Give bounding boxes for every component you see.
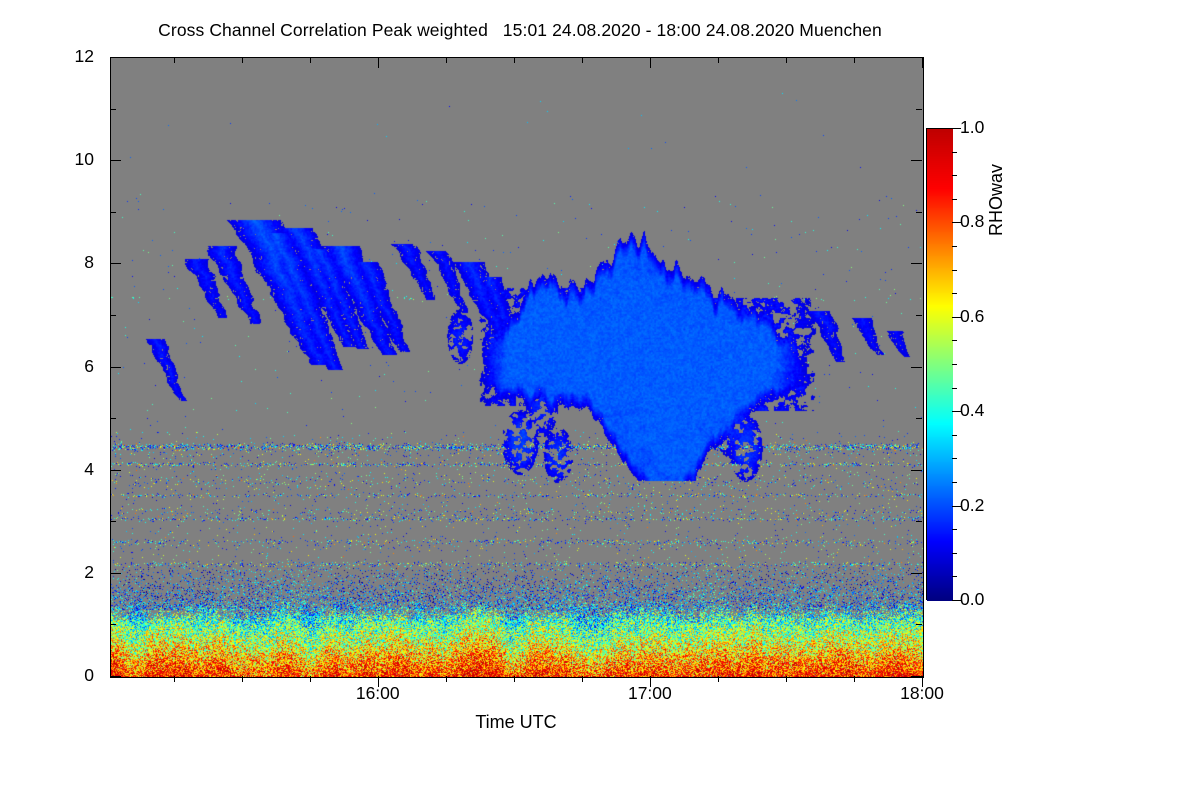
- y-tick-mark-minor: [110, 521, 116, 522]
- y-tick-label: 6: [52, 356, 94, 377]
- colorbar-tick-mark-minor: [952, 293, 957, 294]
- y-tick-label: 2: [52, 562, 94, 583]
- y-tick-label: 10: [52, 149, 94, 170]
- x-tick-mark-minor: [582, 57, 583, 63]
- colorbar[interactable]: [926, 128, 952, 600]
- x-tick-mark-minor: [854, 676, 855, 682]
- x-axis-label: Time UTC: [110, 712, 922, 733]
- x-tick-mark: [922, 57, 923, 68]
- y-tick-mark: [911, 263, 922, 264]
- page-title: Cross Channel Correlation Peak weighted …: [0, 20, 1040, 41]
- colorbar-tick-label: 0.2: [960, 495, 984, 516]
- x-tick-mark-minor: [310, 57, 311, 63]
- colorbar-tick-label: 0.6: [960, 306, 984, 327]
- x-tick-mark-minor: [242, 676, 243, 682]
- y-tick-label: 4: [52, 459, 94, 480]
- x-tick-mark-minor: [786, 676, 787, 682]
- y-tick-mark: [110, 367, 121, 368]
- y-tick-mark: [110, 470, 121, 471]
- colorbar-tick-mark-minor: [952, 529, 957, 530]
- y-tick-mark-minor: [916, 624, 922, 625]
- colorbar-tick-mark-minor: [952, 576, 957, 577]
- y-tick-label: 0: [52, 665, 94, 686]
- colorbar-tick-label: 0.0: [960, 589, 984, 610]
- colorbar-label: RHOwav: [986, 100, 1007, 300]
- colorbar-tick-mark-minor: [952, 458, 957, 459]
- colorbar-gradient: [926, 128, 952, 600]
- x-tick-mark-minor: [242, 57, 243, 63]
- y-tick-mark: [110, 160, 121, 161]
- y-tick-mark-minor: [916, 521, 922, 522]
- y-tick-mark-minor: [110, 109, 116, 110]
- y-tick-label: 12: [52, 46, 94, 67]
- colorbar-tick-mark-minor: [952, 364, 957, 365]
- y-tick-mark: [911, 573, 922, 574]
- colorbar-tick-mark-minor: [952, 246, 957, 247]
- x-tick-mark-minor: [446, 676, 447, 682]
- y-tick-mark: [110, 57, 121, 58]
- colorbar-canvas: [927, 129, 953, 601]
- colorbar-tick-mark-minor: [952, 388, 957, 389]
- colorbar-tick-mark-minor: [952, 435, 957, 436]
- y-tick-mark: [110, 676, 121, 677]
- y-tick-mark-minor: [110, 212, 116, 213]
- x-tick-label: 18:00: [877, 683, 967, 704]
- x-tick-mark-minor: [718, 676, 719, 682]
- y-tick-mark-minor: [916, 109, 922, 110]
- x-tick-mark-minor: [786, 57, 787, 63]
- x-tick-mark-minor: [854, 57, 855, 63]
- y-tick-mark: [911, 160, 922, 161]
- colorbar-tick-mark-minor: [952, 270, 957, 271]
- x-tick-mark-minor: [718, 57, 719, 63]
- x-tick-mark: [650, 57, 651, 68]
- x-tick-mark-minor: [514, 57, 515, 63]
- colorbar-tick-label: 0.8: [960, 211, 984, 232]
- x-tick-mark-minor: [310, 676, 311, 682]
- y-tick-label: 8: [52, 252, 94, 273]
- y-tick-mark-minor: [916, 418, 922, 419]
- colorbar-tick-label: 1.0: [960, 117, 984, 138]
- colorbar-tick-label: 0.4: [960, 400, 984, 421]
- colorbar-tick-mark-minor: [952, 199, 957, 200]
- y-tick-mark: [911, 367, 922, 368]
- plot-area[interactable]: [110, 57, 924, 678]
- x-tick-label: 17:00: [605, 683, 695, 704]
- heatmap-data-layer: [111, 58, 923, 677]
- y-tick-mark: [110, 263, 121, 264]
- colorbar-tick-mark-minor: [952, 482, 957, 483]
- y-tick-mark: [110, 573, 121, 574]
- y-tick-mark-minor: [110, 418, 116, 419]
- colorbar-tick-mark-minor: [952, 553, 957, 554]
- x-tick-mark: [378, 57, 379, 68]
- x-tick-mark-minor: [582, 676, 583, 682]
- x-tick-mark-minor: [174, 57, 175, 63]
- x-tick-mark-minor: [174, 676, 175, 682]
- colorbar-tick-mark-minor: [952, 340, 957, 341]
- x-tick-label: 16:00: [333, 683, 423, 704]
- y-tick-mark: [911, 470, 922, 471]
- colorbar-tick-mark-minor: [952, 152, 957, 153]
- y-tick-mark-minor: [916, 212, 922, 213]
- y-tick-mark: [911, 57, 922, 58]
- y-tick-mark-minor: [110, 315, 116, 316]
- x-tick-mark-minor: [446, 57, 447, 63]
- y-tick-mark-minor: [916, 315, 922, 316]
- y-tick-mark-minor: [110, 624, 116, 625]
- colorbar-tick-mark-minor: [952, 175, 957, 176]
- y-tick-mark: [911, 676, 922, 677]
- figure-canvas: Cross Channel Correlation Peak weighted …: [0, 0, 1200, 800]
- x-tick-mark-minor: [514, 676, 515, 682]
